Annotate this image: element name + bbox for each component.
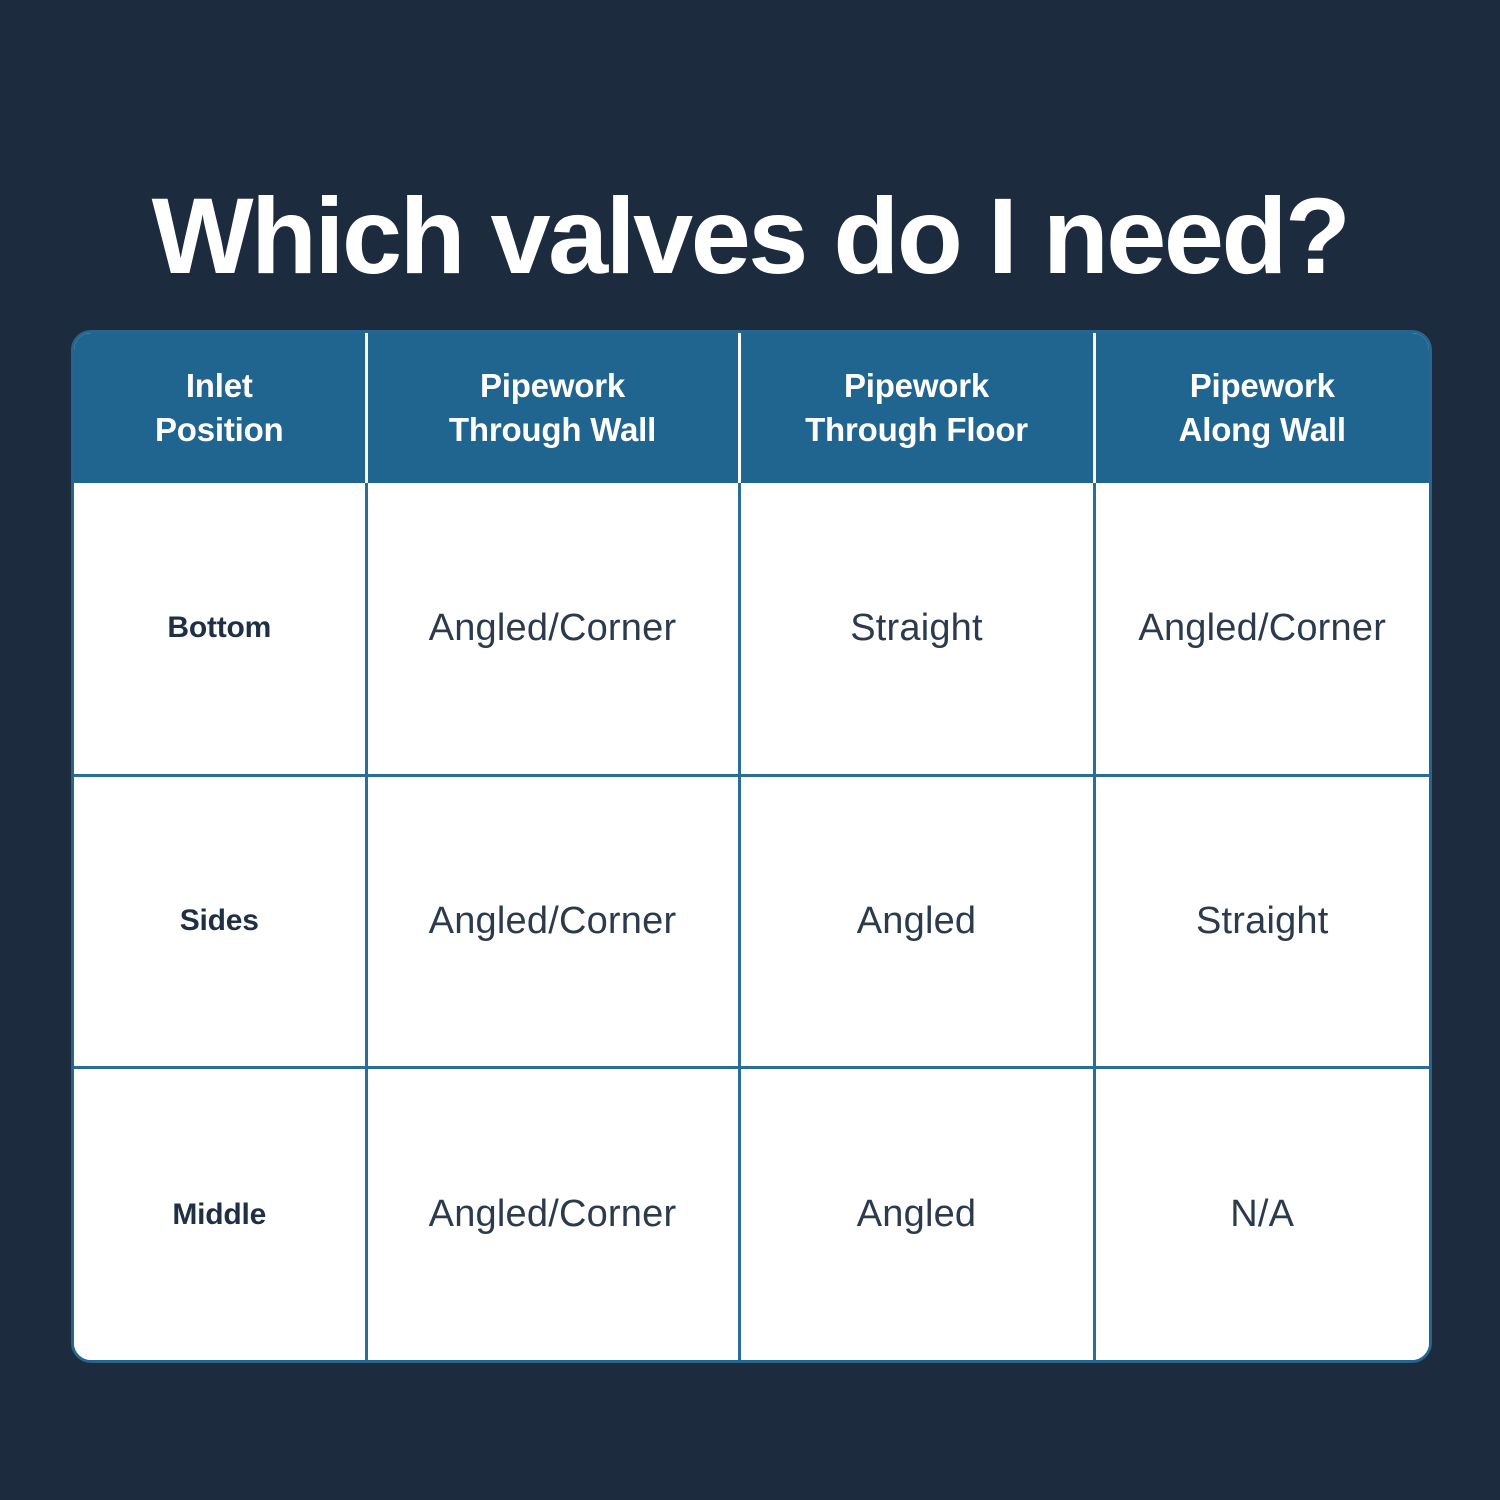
valve-selection-table: Inlet Position Pipework Through Wall Pip… [74, 333, 1429, 1360]
column-header-line-2: Position [74, 408, 365, 452]
cell-bottom-through-floor: Straight [739, 483, 1094, 775]
cell-middle-through-wall: Angled/Corner [366, 1068, 739, 1360]
infographic-page: Which valves do I need? Inlet Position P… [0, 0, 1500, 1500]
cell-bottom-through-wall: Angled/Corner [366, 483, 739, 775]
column-header-line-2: Through Floor [741, 408, 1093, 452]
column-header-line-1: Inlet [74, 364, 365, 408]
column-header-line-2: Along Wall [1096, 408, 1430, 452]
column-header-inlet-position: Inlet Position [74, 333, 366, 483]
cell-middle-along-wall: N/A [1094, 1068, 1429, 1360]
cell-sides-through-floor: Angled [739, 775, 1094, 1067]
column-header-pipework-along-wall: Pipework Along Wall [1094, 333, 1429, 483]
table-row: Bottom Angled/Corner Straight Angled/Cor… [74, 483, 1429, 775]
column-header-pipework-through-floor: Pipework Through Floor [739, 333, 1094, 483]
column-header-line-1: Pipework [368, 364, 738, 408]
table-body: Bottom Angled/Corner Straight Angled/Cor… [74, 483, 1429, 1360]
cell-sides-through-wall: Angled/Corner [366, 775, 739, 1067]
column-header-pipework-through-wall: Pipework Through Wall [366, 333, 739, 483]
table-header-row: Inlet Position Pipework Through Wall Pip… [74, 333, 1429, 483]
cell-sides-along-wall: Straight [1094, 775, 1429, 1067]
cell-middle-through-floor: Angled [739, 1068, 1094, 1360]
table-row: Sides Angled/Corner Angled Straight [74, 775, 1429, 1067]
row-label-bottom: Bottom [74, 483, 366, 775]
column-header-line-1: Pipework [741, 364, 1093, 408]
page-title: Which valves do I need? [0, 176, 1500, 297]
row-label-sides: Sides [74, 775, 366, 1067]
cell-bottom-along-wall: Angled/Corner [1094, 483, 1429, 775]
row-label-middle: Middle [74, 1068, 366, 1360]
column-header-line-1: Pipework [1096, 364, 1430, 408]
column-header-line-2: Through Wall [368, 408, 738, 452]
table-row: Middle Angled/Corner Angled N/A [74, 1068, 1429, 1360]
valve-selection-table-card: Inlet Position Pipework Through Wall Pip… [71, 330, 1432, 1363]
table-header: Inlet Position Pipework Through Wall Pip… [74, 333, 1429, 483]
